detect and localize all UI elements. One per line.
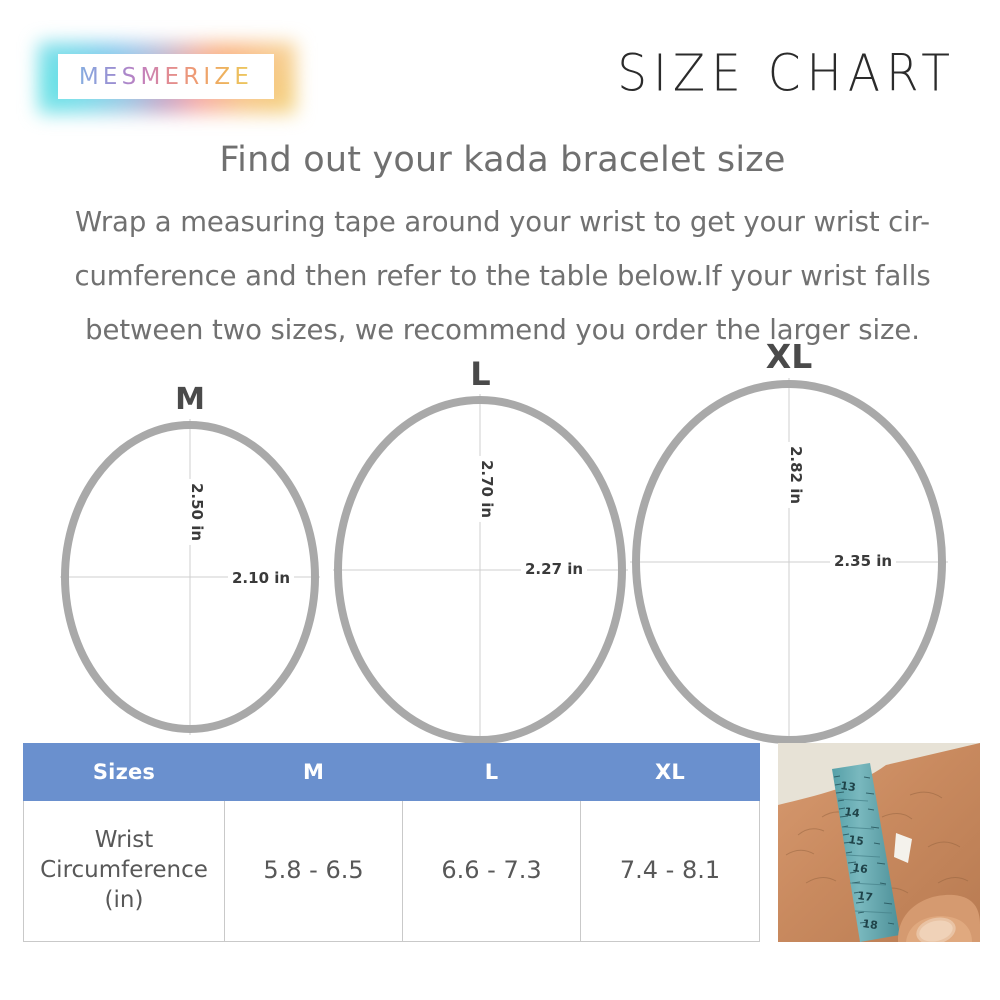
row-label-wrist-circumference: WristCircumference(in)	[24, 801, 225, 942]
oval-height-label-m: 2.50 in	[188, 479, 206, 545]
oval-unit-xl: XL 2.82 in 2.35 in	[630, 340, 948, 736]
oval-label-xl: XL	[630, 340, 948, 373]
intro-line-1: Wrap a measuring tape around your wrist …	[45, 195, 960, 249]
wrist-photo-illustration: 13 14 15 16 17 18	[778, 743, 980, 942]
oval-height-label-xl: 2.82 in	[787, 442, 805, 508]
oval-shape-xl	[630, 378, 948, 746]
table-header-m: M	[225, 744, 403, 801]
table-header-sizes: Sizes	[24, 744, 225, 801]
oval-width-label-xl: 2.35 in	[830, 552, 896, 570]
intro-block: Find out your kada bracelet size Wrap a …	[45, 140, 960, 357]
table-header-l: L	[403, 744, 581, 801]
table-header-row: Sizes M L XL	[24, 744, 760, 801]
svg-text:15: 15	[848, 833, 865, 848]
svg-text:14: 14	[844, 805, 861, 820]
oval-label-l: L	[333, 358, 628, 390]
intro-heading: Find out your kada bracelet size	[45, 140, 960, 181]
cell-wrist-m: 5.8 - 6.5	[225, 801, 403, 942]
oval-unit-l: L 2.70 in 2.27 in	[333, 358, 628, 738]
cell-wrist-xl: 7.4 - 8.1	[581, 801, 760, 942]
cell-wrist-l: 6.6 - 7.3	[403, 801, 581, 942]
svg-text:17: 17	[857, 889, 874, 904]
table-header-xl: XL	[581, 744, 760, 801]
page-title: SIZE CHART	[617, 44, 956, 103]
wrist-measuring-photo: 13 14 15 16 17 18	[778, 743, 980, 942]
svg-text:16: 16	[852, 861, 869, 876]
oval-width-label-m: 2.10 in	[228, 569, 294, 587]
oval-height-label-l: 2.70 in	[478, 456, 496, 522]
intro-line-2: cumference and then refer to the table b…	[45, 249, 960, 303]
oval-diagram-group: M 2.50 in 2.10 in L 2.70 in 2.27 in XL 2…	[0, 340, 1000, 740]
oval-width-label-l: 2.27 in	[521, 560, 587, 578]
table-row: WristCircumference(in) 5.8 - 6.5 6.6 - 7…	[24, 801, 760, 942]
size-table: Sizes M L XL WristCircumference(in) 5.8 …	[23, 743, 760, 942]
logo-wordmark: MESMERIZE	[58, 54, 274, 99]
svg-text:13: 13	[840, 779, 857, 794]
brand-logo: MESMERIZE	[38, 42, 296, 114]
oval-unit-m: M 2.50 in 2.10 in	[60, 385, 320, 735]
oval-label-m: M	[60, 385, 320, 415]
svg-text:18: 18	[862, 917, 879, 932]
